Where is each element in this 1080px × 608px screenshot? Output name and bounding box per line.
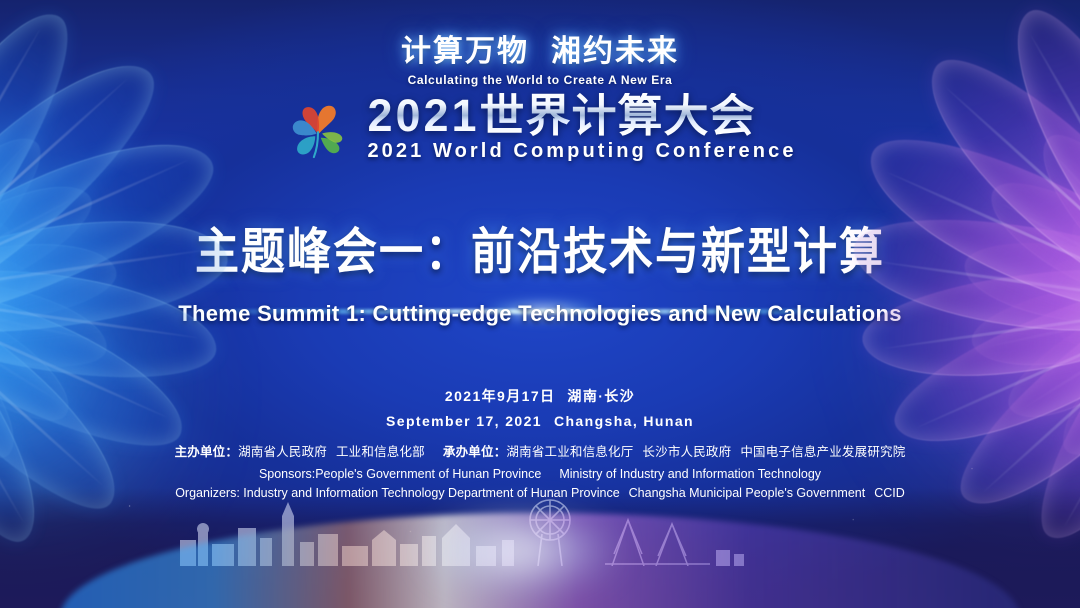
- conference-title-english: 2021 World Computing Conference: [367, 140, 796, 163]
- event-date-chinese: 2021年9月17日湖南·长沙: [0, 386, 1080, 406]
- location-cn-text: 湖南·长沙: [567, 388, 635, 404]
- conference-banner: 计算万物湘约未来 Calculating the World to Create…: [0, 0, 1080, 608]
- date-en-text: September 17, 2021: [386, 413, 542, 429]
- organizers-en-text: Organizers: Industry and Information Tec…: [175, 486, 619, 500]
- event-date-english: September 17, 2021Changsha, Hunan: [0, 413, 1080, 429]
- summit-title-english: Theme Summit 1: Cutting-edge Technologie…: [0, 301, 1080, 327]
- organizer-label-cn: 承办单位：: [443, 445, 507, 459]
- organizers-english: Organizers: Industry and Information Tec…: [0, 486, 1080, 500]
- butterfly-lotus-logo-icon: [283, 92, 353, 164]
- organizers-en3-text: CCID: [874, 486, 905, 500]
- conference-title-chinese: 2021世界计算大会: [367, 93, 796, 139]
- brand-title-row: 2021世界计算大会 2021 World Computing Conferen…: [0, 92, 1080, 164]
- banner-content: 计算万物湘约未来 Calculating the World to Create…: [0, 0, 1080, 608]
- organizer-org2-cn: 长沙市人民政府: [642, 445, 731, 459]
- organizer-org3-cn: 中国电子信息产业发展研究院: [740, 445, 905, 459]
- organizers-en2-text: Changsha Municipal People's Government: [629, 486, 866, 500]
- conference-year: 2021: [367, 90, 479, 141]
- tagline-english: Calculating the World to Create A New Er…: [0, 73, 1080, 87]
- tagline-block: 计算万物湘约未来 Calculating the World to Create…: [0, 26, 1080, 87]
- date-cn-text: 2021年9月17日: [445, 388, 556, 404]
- sponsors-en2-text: Ministry of Industry and Information Tec…: [559, 467, 821, 481]
- tagline-cn-part2: 湘约未来: [551, 35, 679, 68]
- footer-block: 2021年9月17日湖南·长沙 September 17, 2021Changs…: [0, 386, 1080, 500]
- location-en-text: Changsha, Hunan: [554, 413, 694, 429]
- tagline-chinese: 计算万物湘约未来: [0, 26, 1080, 70]
- sponsors-english: Sponsors:People's Government of Hunan Pr…: [0, 467, 1080, 481]
- summit-block: 主题峰会一：前沿技术与新型计算 Theme Summit 1: Cutting-…: [0, 215, 1080, 327]
- host-org2-cn: 工业和信息化部: [336, 445, 425, 459]
- summit-title-chinese: 主题峰会一：前沿技术与新型计算: [0, 211, 1080, 283]
- host-org1-cn: 湖南省人民政府: [238, 445, 327, 459]
- conference-title-cn-text: 世界计算大会: [480, 90, 756, 141]
- credits-chinese: 主办单位：湖南省人民政府工业和信息化部承办单位：湖南省工业和信息化厅长沙市人民政…: [0, 441, 1080, 460]
- tagline-cn-part1: 计算万物: [401, 35, 529, 68]
- brand-title-block: 2021世界计算大会 2021 World Computing Conferen…: [367, 93, 796, 164]
- host-label-cn: 主办单位：: [175, 445, 239, 459]
- organizer-org1-cn: 湖南省工业和信息化厅: [506, 445, 633, 459]
- sponsors-en-text: Sponsors:People's Government of Hunan Pr…: [259, 467, 541, 481]
